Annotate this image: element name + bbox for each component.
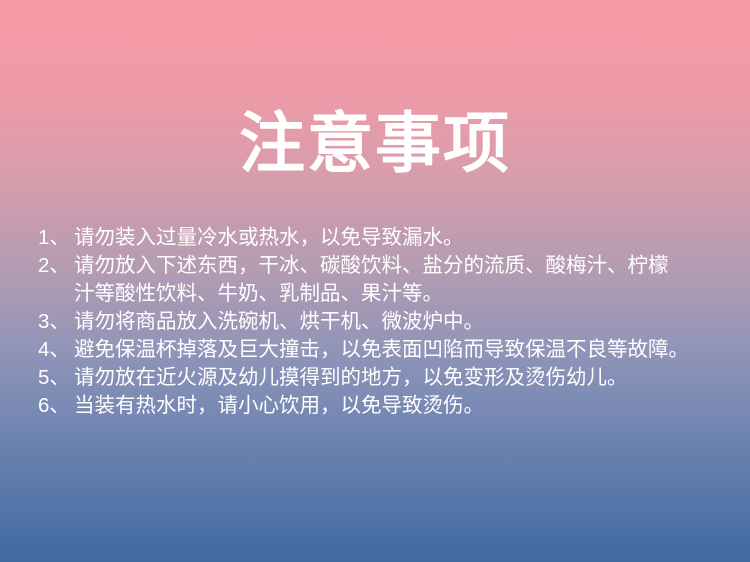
list-item-body: 当装有热水时，请小心饮用，以免导致烫伤。 bbox=[74, 392, 738, 420]
poster-canvas: 注意事项 1、 请勿装入过量冷水或热水，以免导致漏水。 2、 请勿放入下述东西，… bbox=[0, 0, 750, 562]
list-item: 5、 请勿放在近火源及幼儿摸得到的地方，以免变形及烫伤幼儿。 bbox=[38, 364, 738, 392]
page-title-container: 注意事项 bbox=[0, 62, 750, 226]
list-item: 1、 请勿装入过量冷水或热水，以免导致漏水。 bbox=[38, 224, 738, 252]
list-item-line: 汁等酸性饮料、牛奶、乳制品、果汁等。 bbox=[74, 280, 738, 308]
notes-list: 1、 请勿装入过量冷水或热水，以免导致漏水。 2、 请勿放入下述东西，干冰、碳酸… bbox=[38, 224, 738, 420]
list-item: 2、 请勿放入下述东西，干冰、碳酸饮料、盐分的流质、酸梅汁、柠檬 汁等酸性饮料、… bbox=[38, 252, 738, 308]
list-item-marker: 5、 bbox=[38, 364, 74, 392]
list-item-marker: 6、 bbox=[38, 392, 74, 420]
list-item-body: 避免保温杯掉落及巨大撞击，以免表面凹陷而导致保温不良等故障。 bbox=[74, 336, 738, 364]
list-item-line: 请勿装入过量冷水或热水，以免导致漏水。 bbox=[74, 224, 738, 252]
list-item-line: 避免保温杯掉落及巨大撞击，以免表面凹陷而导致保温不良等故障。 bbox=[74, 336, 738, 364]
list-item-body: 请勿放入下述东西，干冰、碳酸饮料、盐分的流质、酸梅汁、柠檬 汁等酸性饮料、牛奶、… bbox=[74, 252, 738, 308]
list-item: 6、 当装有热水时，请小心饮用，以免导致烫伤。 bbox=[38, 392, 738, 420]
list-item-marker: 3、 bbox=[38, 308, 74, 336]
list-item: 3、 请勿将商品放入洗碗机、烘干机、微波炉中。 bbox=[38, 308, 738, 336]
list-item-body: 请勿放在近火源及幼儿摸得到的地方，以免变形及烫伤幼儿。 bbox=[74, 364, 738, 392]
list-item-marker: 4、 bbox=[38, 336, 74, 364]
list-item-marker: 1、 bbox=[38, 224, 74, 252]
list-item-line: 请勿放入下述东西，干冰、碳酸饮料、盐分的流质、酸梅汁、柠檬 bbox=[74, 252, 738, 280]
list-item: 4、 避免保温杯掉落及巨大撞击，以免表面凹陷而导致保温不良等故障。 bbox=[38, 336, 738, 364]
list-item-line: 请勿将商品放入洗碗机、烘干机、微波炉中。 bbox=[74, 308, 738, 336]
page-title: 注意事项 bbox=[239, 106, 511, 182]
list-item-body: 请勿装入过量冷水或热水，以免导致漏水。 bbox=[74, 224, 738, 252]
list-item-line: 请勿放在近火源及幼儿摸得到的地方，以免变形及烫伤幼儿。 bbox=[74, 364, 738, 392]
list-item-body: 请勿将商品放入洗碗机、烘干机、微波炉中。 bbox=[74, 308, 738, 336]
list-item-line: 当装有热水时，请小心饮用，以免导致烫伤。 bbox=[74, 392, 738, 420]
list-item-marker: 2、 bbox=[38, 252, 74, 280]
